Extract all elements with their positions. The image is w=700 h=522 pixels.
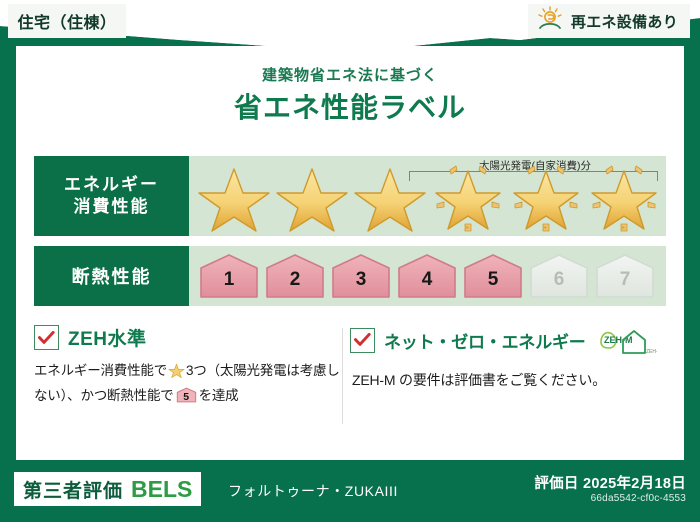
bels-badge: 第三者評価 BELS: [14, 472, 201, 506]
star-icon: [351, 160, 429, 232]
zeh-standard-block: ZEH水準 エネルギー消費性能で3つ（太陽光発電は考慮しない）、かつ断熱性能で5…: [34, 324, 344, 434]
insulation-level-value: 1: [197, 269, 261, 291]
star-solar-icon: [507, 160, 585, 232]
bels-en-label: BELS: [131, 476, 192, 503]
renewable-equipment-label: 再エネ設備あり: [571, 11, 678, 32]
building-name: フォルトゥーナ・ZUKAIII: [228, 481, 398, 501]
insulation-level-value: 4: [395, 269, 459, 291]
insulation-level-value: 2: [263, 269, 327, 291]
zeh-standard-header: ZEH水準: [34, 324, 344, 351]
insulation-performance-band: 断熱性能 1: [34, 246, 666, 306]
evaluation-date: 評価日 2025年2月18日: [534, 472, 686, 493]
zeh-m-logo-icon: ZEH-M ZEH-M: [599, 324, 657, 356]
inline-insulation-badge: 5: [176, 387, 197, 403]
inline-star-icon: [168, 362, 185, 385]
energy-rating-body: 太陽光発電(自家消費)分: [189, 156, 666, 236]
insulation-level-value: 7: [593, 269, 657, 291]
insulation-level-badge: 6: [527, 252, 591, 300]
renewable-equipment-chip: 再エネ設備あり: [528, 4, 690, 38]
energy-performance-label-box: エネルギー 消費性能: [34, 156, 189, 236]
bels-jp-label: 第三者評価: [23, 476, 123, 503]
zeh-standard-checkbox: [34, 325, 59, 350]
label-card: 建築物省エネ法に基づく 省エネ性能ラベル エネルギー 消費性能 太陽光発電(自家…: [16, 46, 684, 460]
star-solar-icon: [429, 160, 507, 232]
insulation-level-badge: 2: [263, 252, 327, 300]
insulation-performance-label-box: 断熱性能: [34, 246, 189, 306]
net-zero-energy-header: ネット・ゼロ・エネルギー ZEH-M ZEH-M: [350, 324, 666, 356]
check-icon: [38, 331, 55, 345]
zeh-desc-part4: を達成: [199, 388, 239, 403]
star-icon: [195, 160, 273, 232]
energy-performance-band: エネルギー 消費性能 太陽光発電(自家消費)分: [34, 156, 666, 236]
net-zero-energy-checkbox: [350, 328, 375, 353]
building-type-chip: 住宅（住棟）: [8, 4, 126, 38]
zeh-standard-title: ZEH水準: [68, 324, 147, 351]
zeh-desc-part1: エネルギー消費性能で: [34, 363, 167, 378]
insulation-level-value: 6: [527, 269, 591, 291]
insulation-level-badge: 1: [197, 252, 261, 300]
insulation-level-badge: 4: [395, 252, 459, 300]
net-zero-energy-block: ネット・ゼロ・エネルギー ZEH-M ZEH-M ZEH-M の要件は評価書をご…: [350, 324, 666, 434]
insulation-level-badge: 3: [329, 252, 393, 300]
zeh-desc-part2: 3つ（太陽光発電: [186, 363, 286, 378]
energy-performance-label: 住宅（住棟） 再エネ設備あり 建築物省エネ法に基づく 省エネ性能ラベル: [0, 0, 700, 522]
label-subtitle: 建築物省エネ法に基づく: [16, 64, 684, 85]
star-icon: [273, 160, 351, 232]
star-solar-icon: [585, 160, 663, 232]
insulation-level-badge: 5: [461, 252, 525, 300]
svg-text:ZEH-M: ZEH-M: [646, 349, 657, 355]
energy-label-line2: 消費性能: [74, 196, 150, 218]
label-title: 省エネ性能ラベル: [16, 86, 684, 126]
building-type-label: 住宅（住棟）: [17, 9, 116, 33]
zeh-section: ZEH水準 エネルギー消費性能で3つ（太陽光発電は考慮しない）、かつ断熱性能で5…: [34, 324, 666, 434]
check-icon: [354, 333, 371, 347]
zeh-standard-description: エネルギー消費性能で3つ（太陽光発電は考慮しない）、かつ断熱性能で5を達成: [34, 360, 344, 407]
energy-label-line1: エネルギー: [64, 174, 159, 196]
sun-renewable-icon: [536, 6, 564, 37]
insulation-rating-body: 1 2 3: [189, 246, 666, 306]
evaluation-id: 66da5542-cf0c-4553: [591, 493, 686, 504]
insulation-level-badge: 7: [593, 252, 657, 300]
insulation-level-scale: 1 2 3: [197, 246, 666, 306]
insulation-level-value: 5: [461, 269, 525, 291]
insulation-level-value: 3: [329, 269, 393, 291]
net-zero-energy-title: ネット・ゼロ・エネルギー: [384, 328, 586, 353]
star-rating: [195, 156, 666, 236]
net-zero-energy-description: ZEH-M の要件は評価書をご覧ください。: [352, 369, 666, 392]
inline-badge-value: 5: [176, 389, 197, 406]
label-footer: 第三者評価 BELS フォルトゥーナ・ZUKAIII 評価日 2025年2月18…: [0, 460, 700, 522]
